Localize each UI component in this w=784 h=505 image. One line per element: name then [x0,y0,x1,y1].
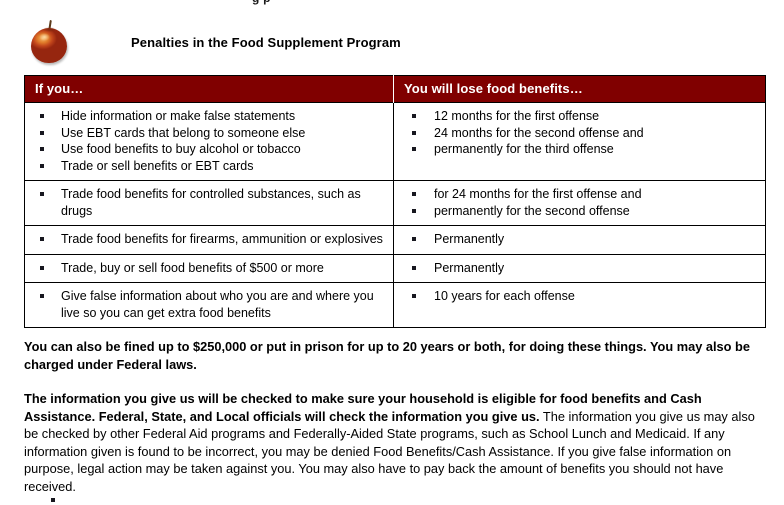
bullet-list: Give false information about who you are… [31,288,387,321]
bullet-list: Trade, buy or sell food benefits of $500… [31,260,387,277]
clipped-top-text: g p [252,0,271,5]
bullet-list: Permanently [400,260,759,277]
clipped-bottom-bullet [51,498,55,502]
column-header-you-will-lose: You will lose food benefits… [394,76,766,103]
cell-if-you: Give false information about who you are… [25,283,394,328]
list-item: 10 years for each offense [400,288,759,305]
table-row: Trade food benefits for firearms, ammuni… [25,226,766,255]
list-item: Hide information or make false statement… [31,108,387,125]
cell-if-you: Trade food benefits for firearms, ammuni… [25,226,394,255]
list-item: for 24 months for the first offense and [400,186,759,203]
apple-dimple [43,27,56,32]
list-item: Permanently [400,260,759,277]
list-item: Trade food benefits for controlled subst… [31,186,387,219]
fines-notice-paragraph: You can also be fined up to $250,000 or … [24,338,765,373]
list-item: 12 months for the first offense [400,108,759,125]
apple-icon [28,18,72,66]
table-row: Trade food benefits for controlled subst… [25,181,766,226]
cell-you-lose: Permanently [394,254,766,283]
cell-you-lose: for 24 months for the first offense and … [394,181,766,226]
cell-if-you: Hide information or make false statement… [25,103,394,181]
bullet-list: 10 years for each offense [400,288,759,305]
list-item: permanently for the third offense [400,141,759,158]
bullet-list: for 24 months for the first offense and … [400,186,759,219]
table-row: Hide information or make false statement… [25,103,766,181]
table-row: Give false information about who you are… [25,283,766,328]
cell-you-lose: Permanently [394,226,766,255]
cell-you-lose: 10 years for each offense [394,283,766,328]
apple-body [31,28,67,63]
table-row: Trade, buy or sell food benefits of $500… [25,254,766,283]
list-item: Trade, buy or sell food benefits of $500… [31,260,387,277]
verification-paragraph: The information you give us will be chec… [24,390,765,495]
page-title: Penalties in the Food Supplement Program [131,35,401,50]
cell-if-you: Trade, buy or sell food benefits of $500… [25,254,394,283]
list-item: Use EBT cards that belong to someone els… [31,125,387,142]
list-item: Trade or sell benefits or EBT cards [31,158,387,175]
bullet-list: Trade food benefits for controlled subst… [31,186,387,219]
bullet-list: Hide information or make false statement… [31,108,387,174]
list-item: Trade food benefits for firearms, ammuni… [31,231,387,248]
cell-you-lose: 12 months for the first offense 24 month… [394,103,766,181]
document-header: Penalties in the Food Supplement Program [24,14,764,70]
bullet-list: 12 months for the first offense 24 month… [400,108,759,158]
list-item: Give false information about who you are… [31,288,387,321]
penalties-table: If you… You will lose food benefits… Hid… [24,75,766,328]
list-item: Use food benefits to buy alcohol or toba… [31,141,387,158]
column-header-if-you: If you… [25,76,394,103]
list-item: permanently for the second offense [400,203,759,220]
bullet-list: Trade food benefits for firearms, ammuni… [31,231,387,248]
list-item: Permanently [400,231,759,248]
list-item: 24 months for the second offense and [400,125,759,142]
table-header-row: If you… You will lose food benefits… [25,76,766,103]
bullet-list: Permanently [400,231,759,248]
cell-if-you: Trade food benefits for controlled subst… [25,181,394,226]
